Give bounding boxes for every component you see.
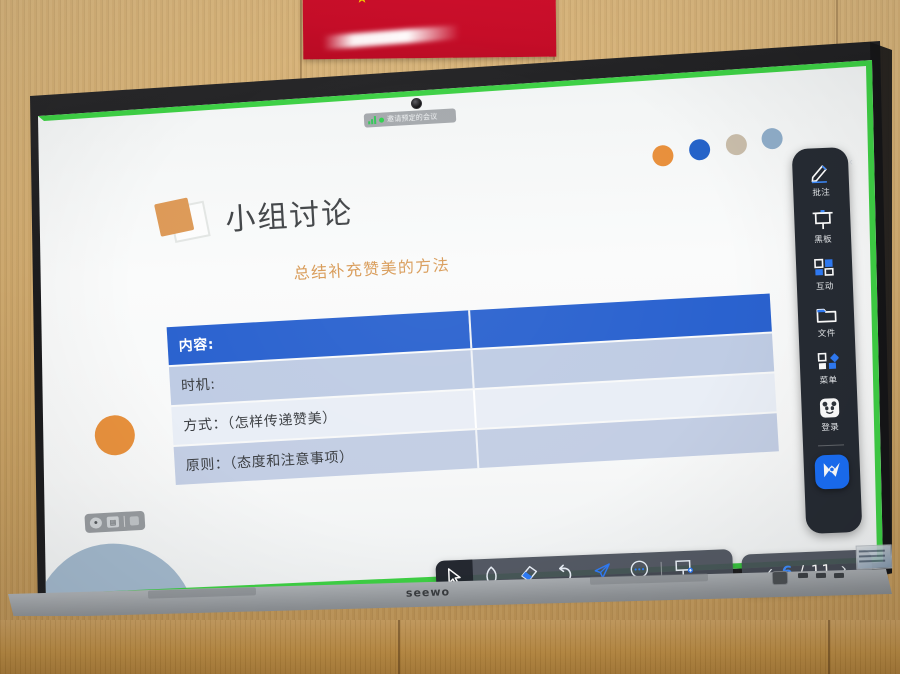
sidebar-collapse-button[interactable]: ‹ xyxy=(843,152,860,173)
toolbar-divider xyxy=(124,516,126,527)
interactive-icon xyxy=(812,256,837,279)
sidebar-item-file[interactable]: 文件 xyxy=(798,302,855,340)
chassis-port xyxy=(834,573,844,578)
pen-annotate-icon xyxy=(808,162,833,185)
sidebar-divider xyxy=(818,444,844,446)
sidebar-item-login[interactable]: 登录 xyxy=(801,396,858,434)
sidebar-item-blackboard[interactable]: 黑板 xyxy=(794,208,851,246)
display-screen: 小组讨论 总结补充赞美的方法 内容: 时机: 方式：（怎样传递赞美） xyxy=(8,38,892,616)
folder-file-icon xyxy=(814,303,839,326)
sidebar-item-menu[interactable]: 菜单 xyxy=(799,349,856,387)
signal-bars-icon xyxy=(368,116,376,124)
keyboard-icon[interactable]: ▤ xyxy=(107,516,120,528)
device-sticker xyxy=(856,544,893,569)
seewo-app-icon xyxy=(821,460,844,484)
chassis-port xyxy=(816,573,826,578)
sidebar-item-interactive[interactable]: 互动 xyxy=(796,255,853,293)
sidebar-label: 菜单 xyxy=(819,374,837,387)
status-dot-icon xyxy=(379,117,384,122)
sidebar-label: 文件 xyxy=(818,327,836,340)
slide-title: 小组讨论 xyxy=(224,188,354,239)
photo-scene: ★ 小组讨论 xyxy=(0,0,900,674)
panda-login-icon xyxy=(817,396,842,419)
record-icon[interactable]: ● xyxy=(90,517,103,529)
meeting-status-label: 邀请预定的会议 xyxy=(387,111,438,124)
menu-grid-icon xyxy=(815,350,840,373)
sidebar-label: 黑板 xyxy=(814,233,832,246)
sidebar-label: 登录 xyxy=(821,421,839,434)
sidebar-label: 互动 xyxy=(816,280,834,293)
diamond-badge-icon xyxy=(154,195,209,244)
slide-mini-toolbar[interactable]: ● ▤ xyxy=(84,511,145,533)
power-button[interactable] xyxy=(772,571,788,585)
more-icon[interactable] xyxy=(130,516,140,525)
sidebar-label: 批注 xyxy=(812,186,830,199)
blackboard-icon xyxy=(810,209,835,232)
interactive-whiteboard: 小组讨论 总结补充赞美的方法 内容: 时机: 方式：（怎样传递赞美） xyxy=(8,38,892,638)
seewo-brand-logo: seewo xyxy=(398,585,458,600)
discussion-table: 内容: 时机: 方式：（怎样传递赞美） 原则：（态度和注意事项） xyxy=(166,292,779,487)
sidebar-item-annotate[interactable]: 批注 xyxy=(792,161,849,199)
camera-icon xyxy=(411,98,422,109)
chassis-port xyxy=(798,573,808,578)
seewo-app-button[interactable] xyxy=(814,454,849,489)
